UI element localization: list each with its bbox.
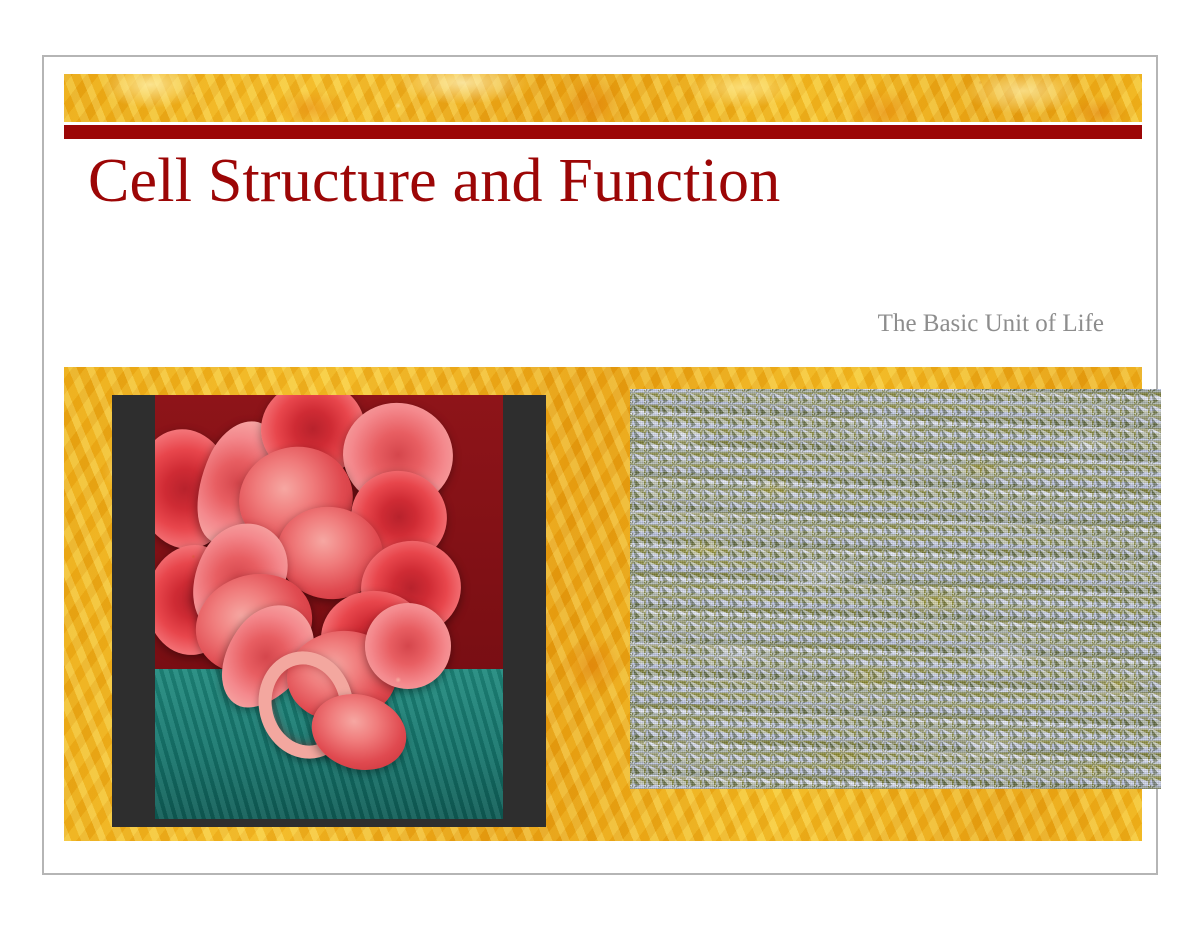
red-blood-cells-photo bbox=[155, 395, 503, 819]
page-title: Cell Structure and Function bbox=[88, 145, 1118, 217]
slide-subtitle: The Basic Unit of Life bbox=[878, 309, 1104, 339]
blood-cell bbox=[365, 603, 451, 689]
micrograph-grain-layer bbox=[630, 389, 1161, 789]
tissue-micrograph-figure bbox=[630, 389, 1161, 789]
content-gold-band bbox=[64, 367, 1142, 841]
red-blood-cells-figure bbox=[112, 395, 546, 827]
header-gold-band bbox=[64, 74, 1142, 122]
dark-red-rule bbox=[64, 125, 1142, 139]
slide-frame: Cell Structure and Function The Basic Un… bbox=[42, 55, 1158, 875]
